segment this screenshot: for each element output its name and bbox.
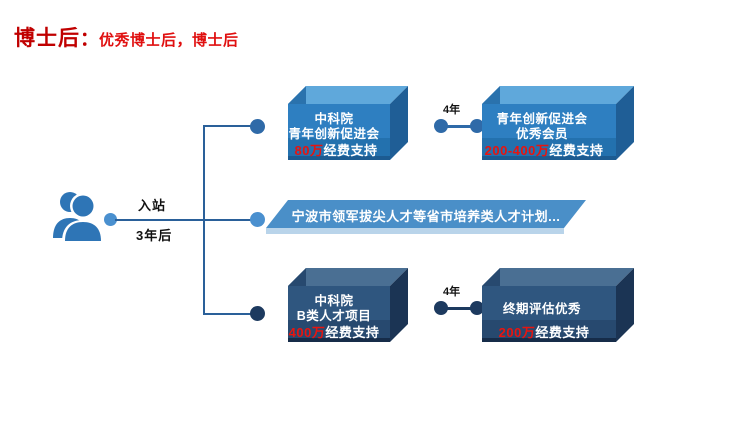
branch-line-bottom — [203, 313, 255, 315]
title-main-text: 博士后 — [14, 22, 80, 52]
years-label-bottom: 4年 — [443, 283, 460, 299]
title-colon: ： — [80, 24, 99, 51]
stage-label-entry: 入站 — [138, 195, 166, 214]
stage-label-three-years: 3年后 — [136, 225, 172, 244]
people-icon — [48, 188, 110, 242]
branch-line-top — [203, 125, 255, 127]
branch-dot-bottom — [250, 306, 265, 321]
box-middle-bar-text: 宁波市领军拔尖人才等省市培养类人才计划... — [266, 200, 586, 236]
slide-canvas: 博士后 ： 优秀博士后，博士后 入站 3年后 — [0, 0, 750, 422]
page-title: 博士后 ： 优秀博士后，博士后 — [14, 22, 239, 52]
box-bottom-first[interactable]: 中科院 B类人才项目 400万经费支持 — [288, 268, 408, 346]
box-middle-bar[interactable]: 宁波市领军拔尖人才等省市培养类人才计划... — [266, 200, 586, 236]
branch-dot-top — [250, 119, 265, 134]
trunk-horizontal-line — [115, 219, 205, 221]
years-label-top: 4年 — [443, 101, 460, 117]
title-subtitle-text: 优秀博士后，博士后 — [99, 29, 239, 50]
branch-dot-middle — [250, 212, 265, 227]
box-bottom-second[interactable]: 终期评估优秀 200万经费支持 — [482, 268, 634, 346]
box-top-second[interactable]: 青年创新促进会 优秀会员 200-400万经费支持 — [482, 86, 634, 164]
box-top-first[interactable]: 中科院 青年创新促进会 80万经费支持 — [288, 86, 408, 164]
branch-line-middle — [203, 219, 255, 221]
